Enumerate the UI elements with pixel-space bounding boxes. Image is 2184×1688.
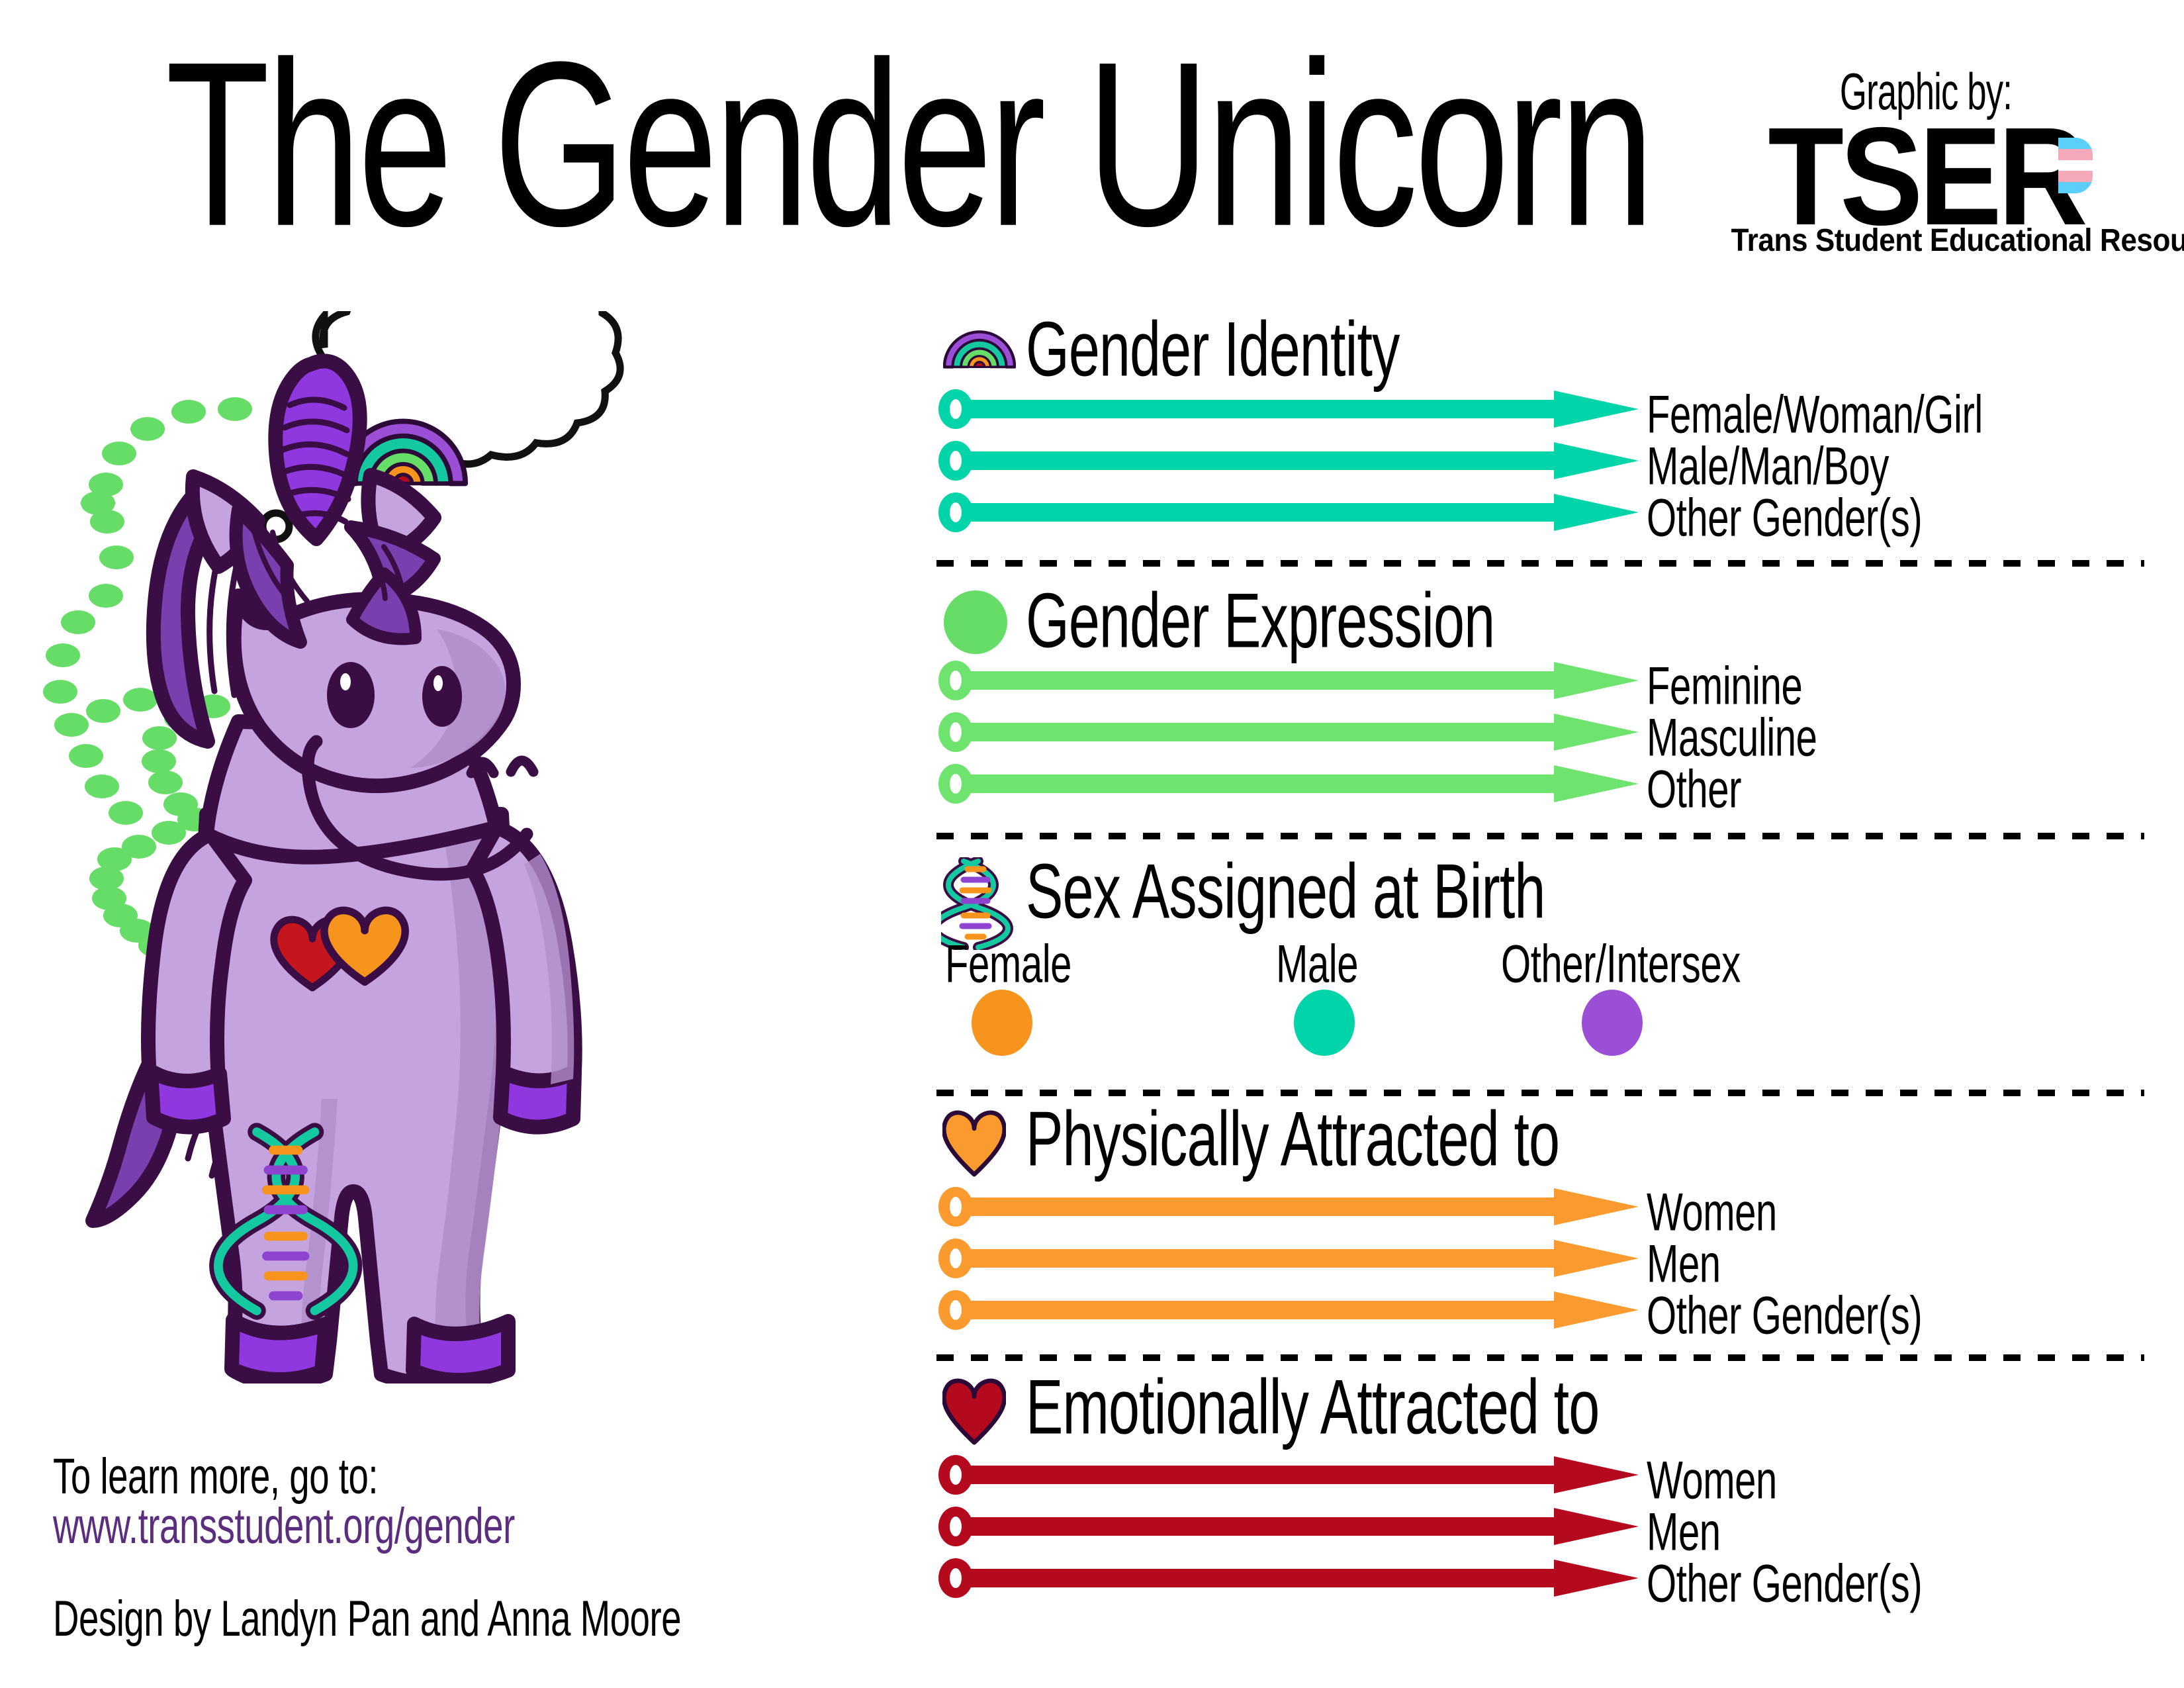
arrow-gender-identity-1 — [938, 389, 1640, 432]
tser-credit-block: Graphic by: TSER Trans Student Education… — [1714, 63, 2138, 275]
divider-3 — [936, 1090, 2144, 1096]
tser-letters: TSER — [1768, 114, 2083, 238]
arrow-emotionally-attracted-3 — [938, 1558, 1640, 1601]
arrow-label-gender-identity-3: Other Gender(s) — [1647, 491, 1922, 544]
section-heading-physically-attracted-to: Physically Attracted to — [1026, 1101, 1559, 1178]
section-gender-expression: Gender Expression Feminine Masculine Oth… — [940, 589, 2144, 834]
orange-heart-icon — [942, 1109, 1006, 1178]
arrow-label-physically-attracted-2: Men — [1647, 1237, 1721, 1290]
arrow-gender-expression-1 — [938, 661, 1640, 704]
sab-label-male: Male — [1276, 937, 1358, 990]
divider-4 — [936, 1354, 2144, 1361]
design-credit-label: Design by Landyn Pan and Anna Moore — [53, 1589, 681, 1650]
arrow-emotionally-attracted-2 — [938, 1507, 1640, 1550]
section-gender-identity: Gender Identity Female/Woman/Girl Male/M… — [940, 311, 2144, 556]
arrow-gender-identity-2 — [938, 441, 1640, 484]
arrow-label-gender-identity-1: Female/Woman/Girl — [1647, 387, 1983, 441]
sab-label-other-intersex: Other/Intersex — [1501, 937, 1741, 990]
arrow-label-emotionally-attracted-3: Other Gender(s) — [1647, 1556, 1922, 1610]
arrow-label-gender-expression-2: Masculine — [1647, 710, 1817, 764]
sab-dot-male — [1294, 990, 1355, 1056]
tser-subtitle: Trans Student Educational Resources — [1731, 222, 2121, 259]
section-sex-assigned-at-birth: Sex Assigned at Birth Female Male Other/… — [940, 857, 2144, 1076]
section-emotionally-attracted-to: Emotionally Attracted to Women Men Other… — [940, 1377, 2144, 1622]
arrow-emotionally-attracted-1 — [938, 1455, 1640, 1498]
rainbow-icon — [943, 318, 1016, 369]
section-heading-emotionally-attracted-to: Emotionally Attracted to — [1026, 1369, 1599, 1446]
section-heading-sex-assigned-at-birth: Sex Assigned at Birth — [1026, 853, 1545, 931]
left-eye — [327, 662, 375, 728]
trans-flag-icon — [2058, 138, 2093, 193]
sab-dot-female — [972, 990, 1032, 1056]
arrow-gender-expression-2 — [938, 712, 1640, 755]
divider-1 — [936, 560, 2144, 567]
unicorn-body — [93, 814, 575, 1383]
arrow-physically-attracted-2 — [938, 1239, 1640, 1282]
arrow-label-gender-expression-3: Other — [1647, 762, 1741, 816]
green-circle-icon — [944, 590, 1007, 654]
website-link[interactable]: www.transstudent.org/gender — [53, 1496, 515, 1558]
arrow-label-physically-attracted-1: Women — [1647, 1185, 1777, 1239]
arrow-label-gender-identity-2: Male/Man/Boy — [1647, 439, 1889, 492]
arrow-label-emotionally-attracted-2: Men — [1647, 1505, 1721, 1558]
sab-dot-other-intersex — [1582, 990, 1643, 1056]
divider-2 — [936, 833, 2144, 839]
arrow-physically-attracted-1 — [938, 1187, 1640, 1230]
page-title: The Gender Unicorn — [165, 26, 1418, 261]
arrow-label-physically-attracted-3: Other Gender(s) — [1647, 1288, 1922, 1342]
red-heart-icon — [942, 1377, 1006, 1446]
sab-label-female: Female — [945, 937, 1071, 990]
arrow-label-emotionally-attracted-1: Women — [1647, 1453, 1777, 1507]
section-heading-gender-expression: Gender Expression — [1026, 583, 1494, 660]
arrow-gender-expression-3 — [938, 764, 1640, 807]
arrow-label-gender-expression-1: Feminine — [1647, 659, 1802, 712]
gender-unicorn-illustration — [40, 311, 900, 1383]
arrow-physically-attracted-3 — [938, 1290, 1640, 1333]
section-heading-gender-identity: Gender Identity — [1026, 311, 1399, 389]
arrow-gender-identity-3 — [938, 492, 1640, 536]
tser-wordmark: TSER — [1714, 114, 2138, 226]
right-eye — [422, 666, 462, 727]
section-physically-attracted-to: Physically Attracted to Women Men Other … — [940, 1109, 2144, 1354]
